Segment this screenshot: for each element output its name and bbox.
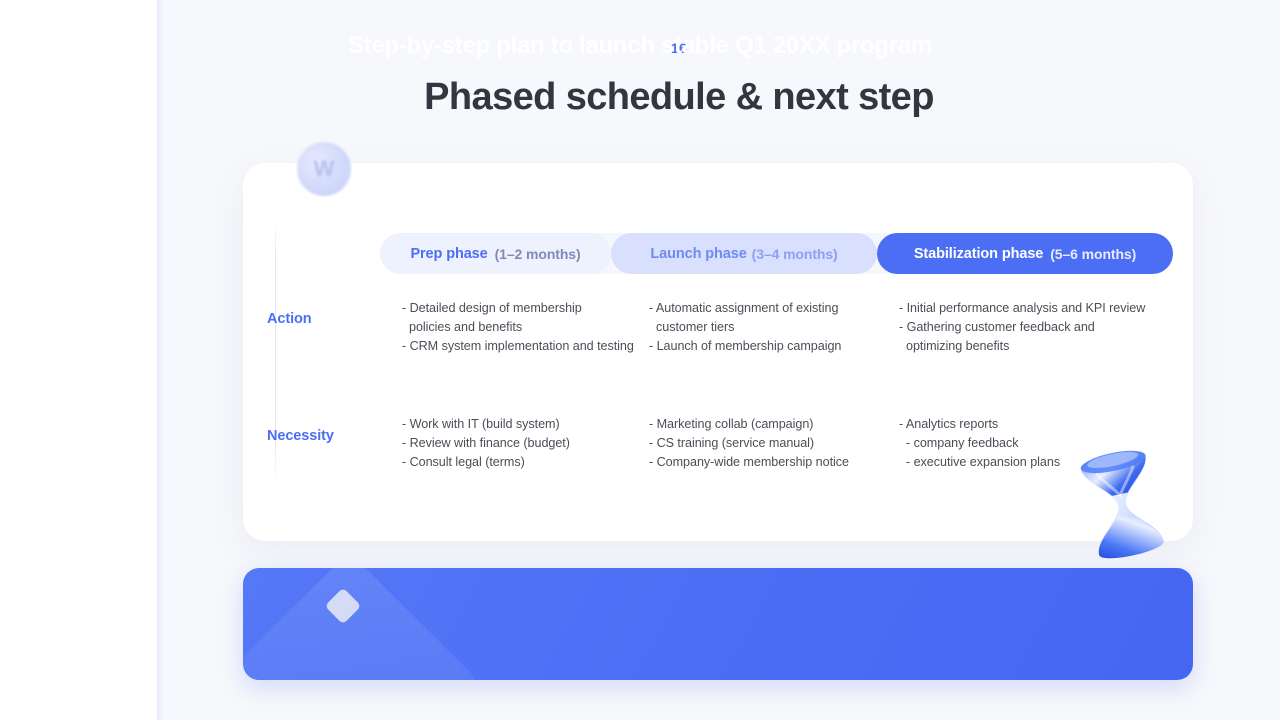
list-item: - Marketing collab (campaign) bbox=[649, 415, 849, 434]
table-cell: - Initial performance analysis and KPI r… bbox=[899, 299, 1145, 355]
table-cell: - Work with IT (build system)- Review wi… bbox=[402, 415, 570, 471]
phase-tab-3[interactable]: Stabilization phase(5–6 months) bbox=[877, 233, 1173, 274]
phase-tab-1[interactable]: Prep phase(1–2 months) bbox=[380, 233, 611, 274]
list-item: - company feedback bbox=[899, 434, 1060, 453]
table-cell: - Automatic assignment of existingcustom… bbox=[649, 299, 841, 355]
list-item: customer tiers bbox=[649, 318, 841, 337]
list-item: - CRM system implementation and testing bbox=[402, 337, 634, 356]
banner-decor-shape bbox=[243, 568, 488, 680]
list-item: - Work with IT (build system) bbox=[402, 415, 570, 434]
list-item: - Consult legal (terms) bbox=[402, 453, 570, 472]
table-cell: - Marketing collab (campaign)- CS traini… bbox=[649, 415, 849, 471]
list-item: - executive expansion plans bbox=[899, 453, 1060, 472]
list-item: - Gathering customer feedback and bbox=[899, 318, 1145, 337]
list-item: - Review with finance (budget) bbox=[402, 434, 570, 453]
phase-tab-duration: (3–4 months) bbox=[752, 246, 838, 262]
phase-tab-name: Stabilization phase bbox=[914, 246, 1043, 262]
table-cell: - Analytics reports- company feedback- e… bbox=[899, 415, 1060, 471]
row-label-action: Action bbox=[267, 311, 312, 327]
column-divider bbox=[275, 215, 276, 487]
list-item: - CS training (service manual) bbox=[649, 434, 849, 453]
sidebar bbox=[0, 0, 157, 720]
coin-token-icon: W bbox=[297, 142, 351, 196]
phase-tab-name: Launch phase bbox=[650, 246, 746, 262]
list-item: - Launch of membership campaign bbox=[649, 337, 841, 356]
phase-tab-2[interactable]: Launch phase(3–4 months) bbox=[611, 233, 877, 274]
list-item: - Automatic assignment of existing bbox=[649, 299, 841, 318]
list-item: - Detailed design of membership bbox=[402, 299, 634, 318]
list-item: - Initial performance analysis and KPI r… bbox=[899, 299, 1145, 318]
phase-tab-name: Prep phase bbox=[410, 246, 487, 262]
table-cell: - Detailed design of membershippolicies … bbox=[402, 299, 634, 355]
page-title: Phased schedule & next step bbox=[78, 76, 1280, 119]
list-item: optimizing benefits bbox=[899, 337, 1145, 356]
sidebar-divider bbox=[157, 0, 165, 720]
cta-banner-text: Step-by-step plan to launch stable Q1 20… bbox=[0, 27, 1280, 64]
list-item: - Analytics reports bbox=[899, 415, 1060, 434]
schedule-card: Prep phase(1–2 months)Launch phase(3–4 m… bbox=[243, 163, 1193, 541]
row-label-necessity: Necessity bbox=[267, 428, 334, 444]
list-item: policies and benefits bbox=[402, 318, 634, 337]
hourglass-3d-icon bbox=[1063, 445, 1181, 563]
phase-tab-duration: (5–6 months) bbox=[1050, 246, 1136, 262]
coin-token-glyph: W bbox=[297, 142, 351, 196]
list-item: - Company-wide membership notice bbox=[649, 453, 849, 472]
phase-tabs[interactable]: Prep phase(1–2 months)Launch phase(3–4 m… bbox=[380, 233, 1173, 274]
cta-banner[interactable] bbox=[243, 568, 1193, 680]
phase-tab-duration: (1–2 months) bbox=[495, 246, 581, 262]
